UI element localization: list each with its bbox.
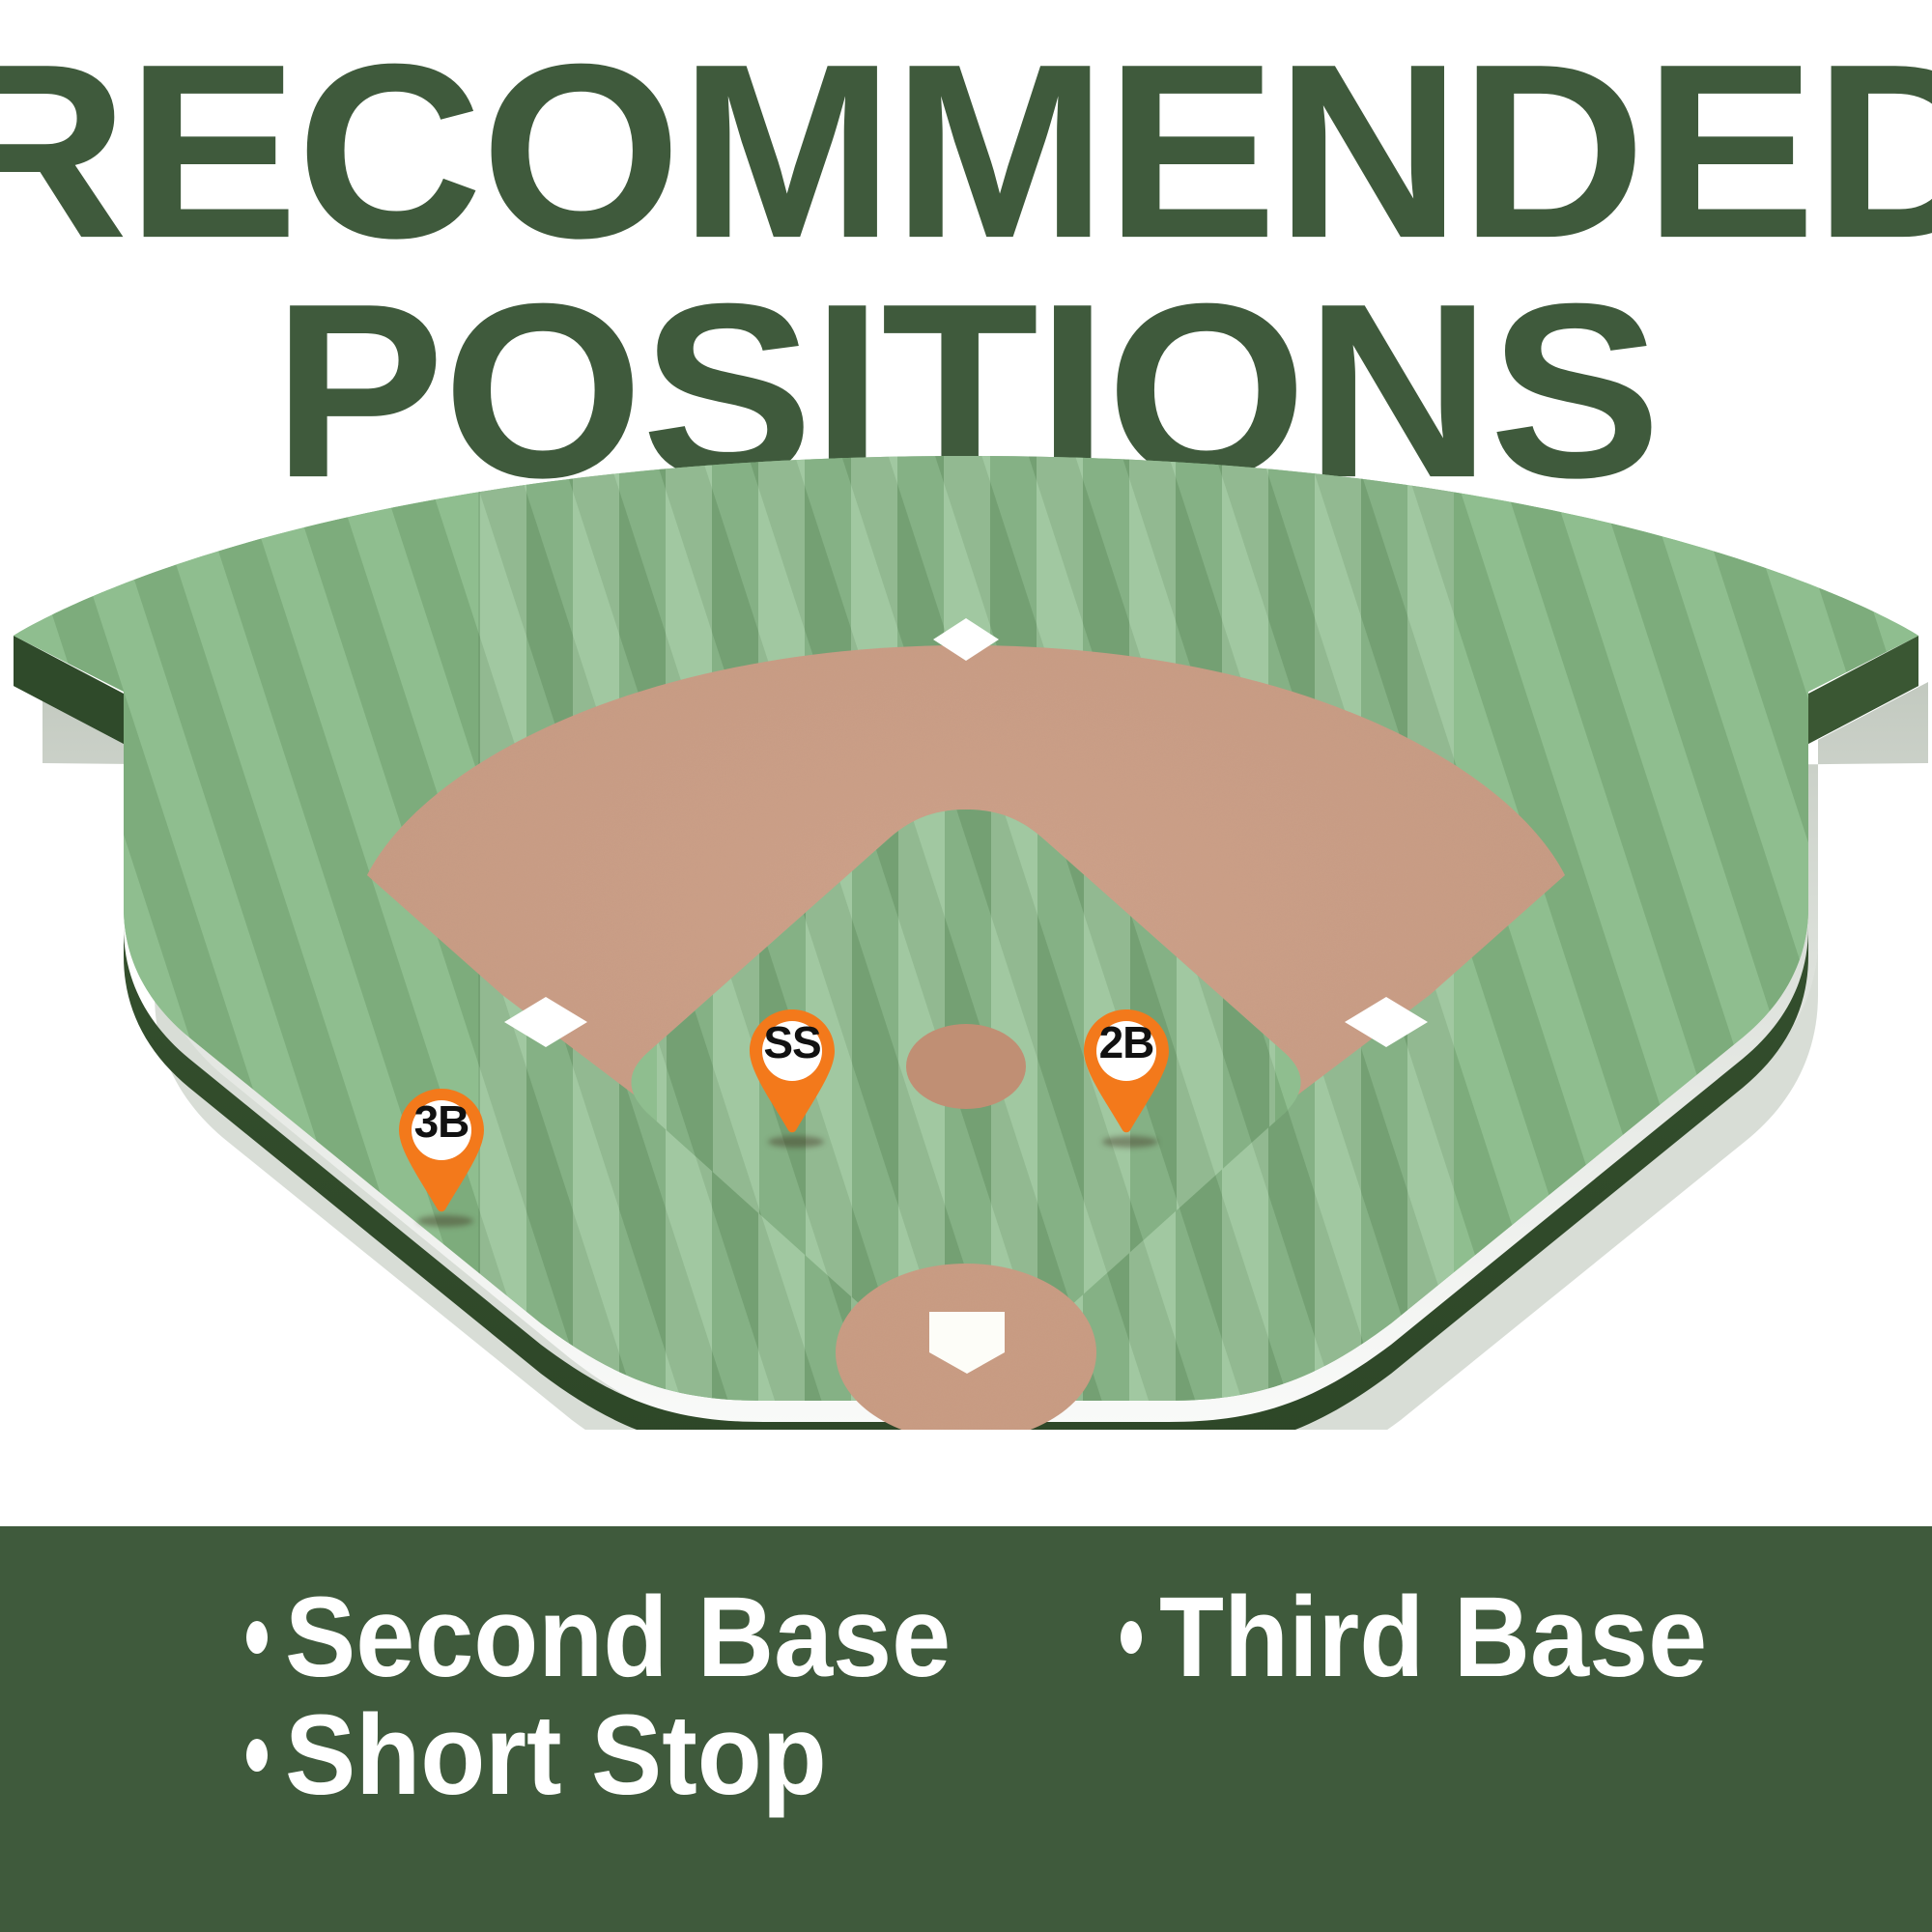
third-base-marker-shadow xyxy=(417,1215,473,1227)
third-base-marker-label: 3B xyxy=(395,1100,488,1143)
page-title-line-1: RECOMMENDED xyxy=(0,33,1932,271)
page-title: RECOMMENDED POSITIONS xyxy=(0,33,1932,506)
second-base-marker-label: 2B xyxy=(1080,1021,1173,1064)
second-base-marker-shadow xyxy=(1102,1136,1158,1148)
bullet-dot-icon xyxy=(246,1739,268,1772)
list-item-label: Short Stop xyxy=(285,1698,827,1812)
bullet-dot-icon xyxy=(246,1621,268,1654)
third-base-marker[interactable]: 3B xyxy=(395,1087,488,1214)
pitchers-mound xyxy=(906,1024,1026,1109)
list-item-label: Third Base xyxy=(1159,1580,1707,1694)
list-item-label: Second Base xyxy=(285,1580,951,1694)
list-item-second-base[interactable]: Second Base xyxy=(246,1580,1121,1694)
bullet-dot-icon xyxy=(1121,1621,1142,1654)
recommended-positions-panel: Second Base Third Base Short Stop xyxy=(0,1526,1932,1932)
list-item-third-base[interactable]: Third Base xyxy=(1121,1580,1695,1694)
recommended-positions-list: Second Base Third Base Short Stop xyxy=(246,1578,1695,1814)
shortstop-marker-label: SS xyxy=(746,1021,838,1064)
list-item-short-stop[interactable]: Short Stop xyxy=(246,1698,1121,1812)
second-base-marker[interactable]: 2B xyxy=(1080,1008,1173,1135)
shortstop-marker[interactable]: SS xyxy=(746,1008,838,1135)
shortstop-marker-shadow xyxy=(768,1136,824,1148)
baseball-field-diagram: 3B SS 2B xyxy=(0,454,1932,1430)
field-illustration xyxy=(0,454,1932,1430)
